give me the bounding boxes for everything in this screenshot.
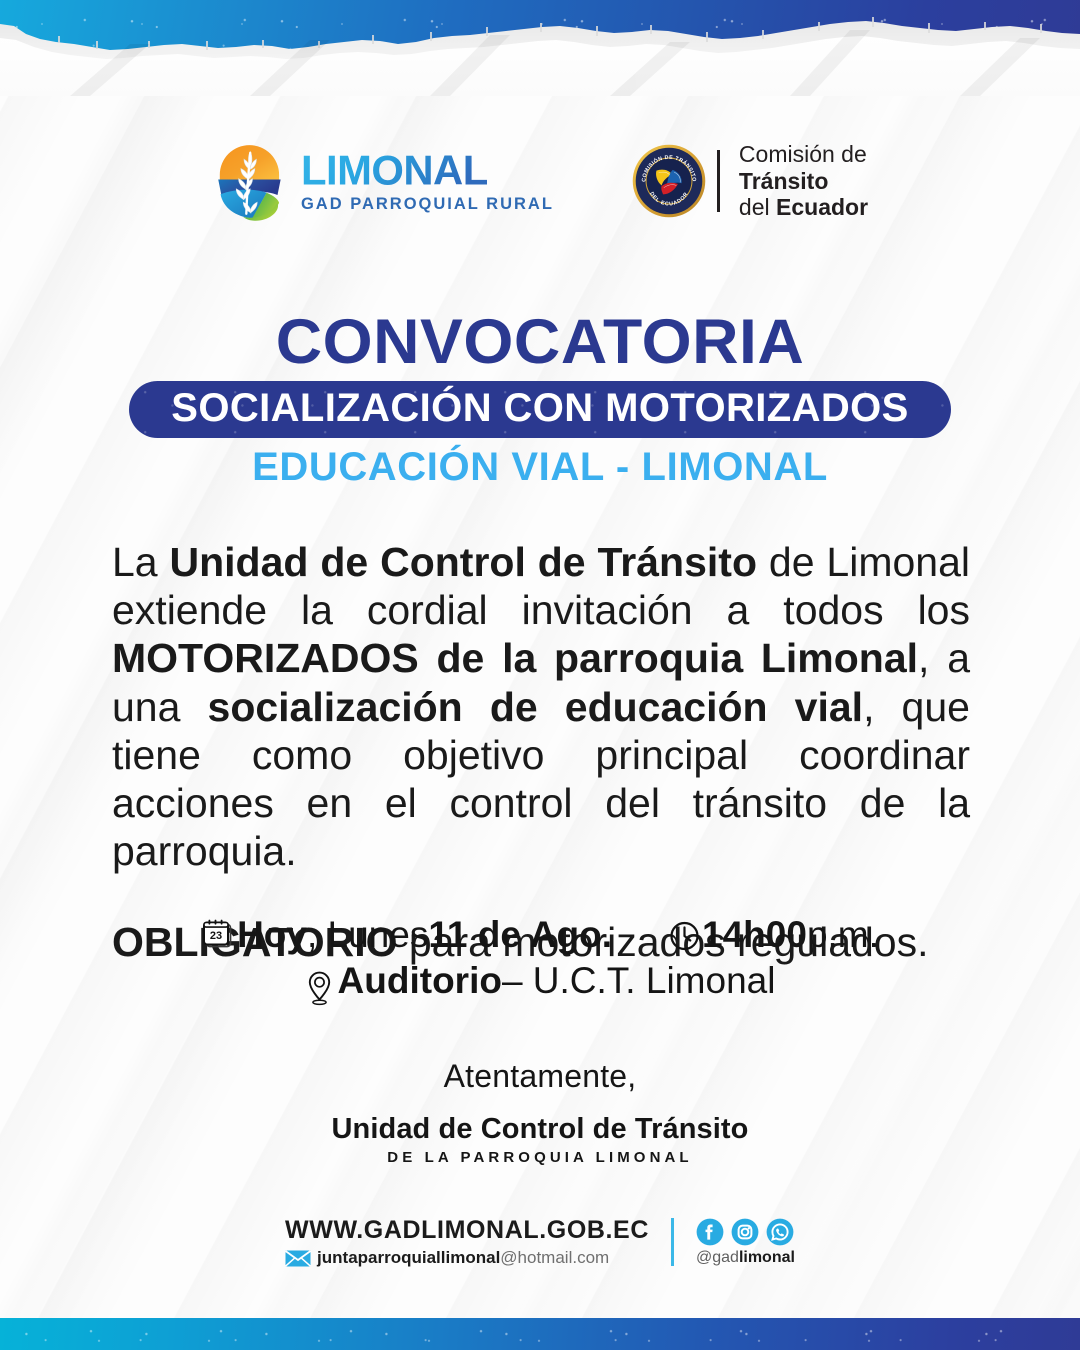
map-pin-icon xyxy=(305,970,334,1006)
headline-pill: SOCIALIZACIÓN CON MOTORIZADOS xyxy=(129,381,951,438)
footer-divider xyxy=(671,1218,674,1266)
time-suffix: p.m. xyxy=(807,912,879,958)
headline-subtitle: EDUCACIÓN VIAL - LIMONAL xyxy=(0,447,1080,487)
place-detail: – U.C.T. Limonal xyxy=(502,958,776,1004)
signature-salutation: Atentamente, xyxy=(0,1058,1080,1095)
body-copy: La Unidad de Control de Tránsito de Limo… xyxy=(112,538,970,966)
cte-seal-icon: COMISIÓN DE TRÁNSITO DEL ECUADOR xyxy=(632,144,706,218)
calendar-icon: 23 xyxy=(201,918,235,952)
whatsapp-icon[interactable] xyxy=(766,1218,794,1246)
svg-text:23: 23 xyxy=(210,930,222,942)
event-date-time-row: 23 Hoy , Lunes 11 de Ago. 14h00 p.m. xyxy=(0,912,1080,958)
date-today-label: Hoy xyxy=(237,912,307,958)
date-value: 11 de Ago. xyxy=(428,912,612,958)
cte-line-2: Tránsito xyxy=(739,168,868,195)
clock-icon xyxy=(668,919,701,952)
social-handle: @gadlimonal xyxy=(696,1249,795,1267)
footer-left: WWW.GADLIMONAL.GOB.EC juntaparroquiallim… xyxy=(285,1216,649,1268)
signature-org: Unidad de Control de Tránsito xyxy=(0,1113,1080,1146)
cte-wordmark: Comisión de Tránsito del Ecuador xyxy=(739,141,868,221)
event-time: 14h00 p.m. xyxy=(668,912,879,958)
body-paragraph-1: La Unidad de Control de Tránsito de Limo… xyxy=(112,538,970,875)
place-name: Auditorio xyxy=(338,958,502,1004)
website-link[interactable]: WWW.GADLIMONAL.GOB.EC xyxy=(285,1216,649,1245)
facebook-icon[interactable] xyxy=(696,1218,724,1246)
event-details: 23 Hoy , Lunes 11 de Ago. 14h00 p.m. xyxy=(0,912,1080,1004)
top-gradient-banner xyxy=(0,0,1080,62)
poster-canvas: LIMONAL GAD PARROQUIAL RURAL xyxy=(0,0,1080,1350)
limonal-wordmark: LIMONAL xyxy=(301,148,552,194)
svg-text:LIMONAL: LIMONAL xyxy=(301,148,488,194)
footer-right: @gadlimonal xyxy=(696,1218,795,1267)
event-place-row: Auditorio – U.C.T. Limonal xyxy=(0,958,1080,1004)
signature-org-sub: DE LA PARROQUIA LIMONAL xyxy=(0,1149,1080,1166)
bottom-gradient-banner xyxy=(0,1318,1080,1350)
social-icons xyxy=(696,1218,794,1246)
headline-main: CONVOCATORIA xyxy=(0,313,1080,373)
footer-contact-bar: WWW.GADLIMONAL.GOB.EC juntaparroquiallim… xyxy=(0,1216,1080,1268)
instagram-icon[interactable] xyxy=(731,1218,759,1246)
limonal-tagline: GAD PARROQUIAL RURAL xyxy=(301,195,554,214)
time-value: 14h00 xyxy=(702,912,807,958)
signature-block: Atentamente, Unidad de Control de Tránsi… xyxy=(0,1058,1080,1166)
limonal-emblem-icon xyxy=(212,140,290,222)
logo-cte: COMISIÓN DE TRÁNSITO DEL ECUADOR Comisió… xyxy=(632,141,868,221)
cte-line-3: del Ecuador xyxy=(739,194,868,221)
limonal-wordmark-group: LIMONAL GAD PARROQUIAL RURAL xyxy=(301,148,554,214)
bottom-banner-speckle xyxy=(0,1318,1080,1350)
event-date: 23 Hoy , Lunes 11 de Ago. xyxy=(201,912,612,958)
headline-pill-label: SOCIALIZACIÓN CON MOTORIZADOS xyxy=(171,386,909,430)
email-address: juntaparroquiallimonal@hotmail.com xyxy=(317,1248,609,1268)
cte-divider xyxy=(717,150,720,212)
logo-row: LIMONAL GAD PARROQUIAL RURAL xyxy=(0,140,1080,222)
envelope-icon xyxy=(285,1250,311,1267)
headline-block: CONVOCATORIA SOCIALIZACIÓN CON MOTORIZAD… xyxy=(0,313,1080,487)
banner-speckle-texture xyxy=(0,0,1080,62)
date-middle: , Lunes xyxy=(307,912,428,958)
email-row[interactable]: juntaparroquiallimonal@hotmail.com xyxy=(285,1248,649,1268)
cte-line-1: Comisión de xyxy=(739,141,868,168)
logo-limonal: LIMONAL GAD PARROQUIAL RURAL xyxy=(212,140,554,222)
headline-pill-wrap: SOCIALIZACIÓN CON MOTORIZADOS xyxy=(0,381,1080,438)
